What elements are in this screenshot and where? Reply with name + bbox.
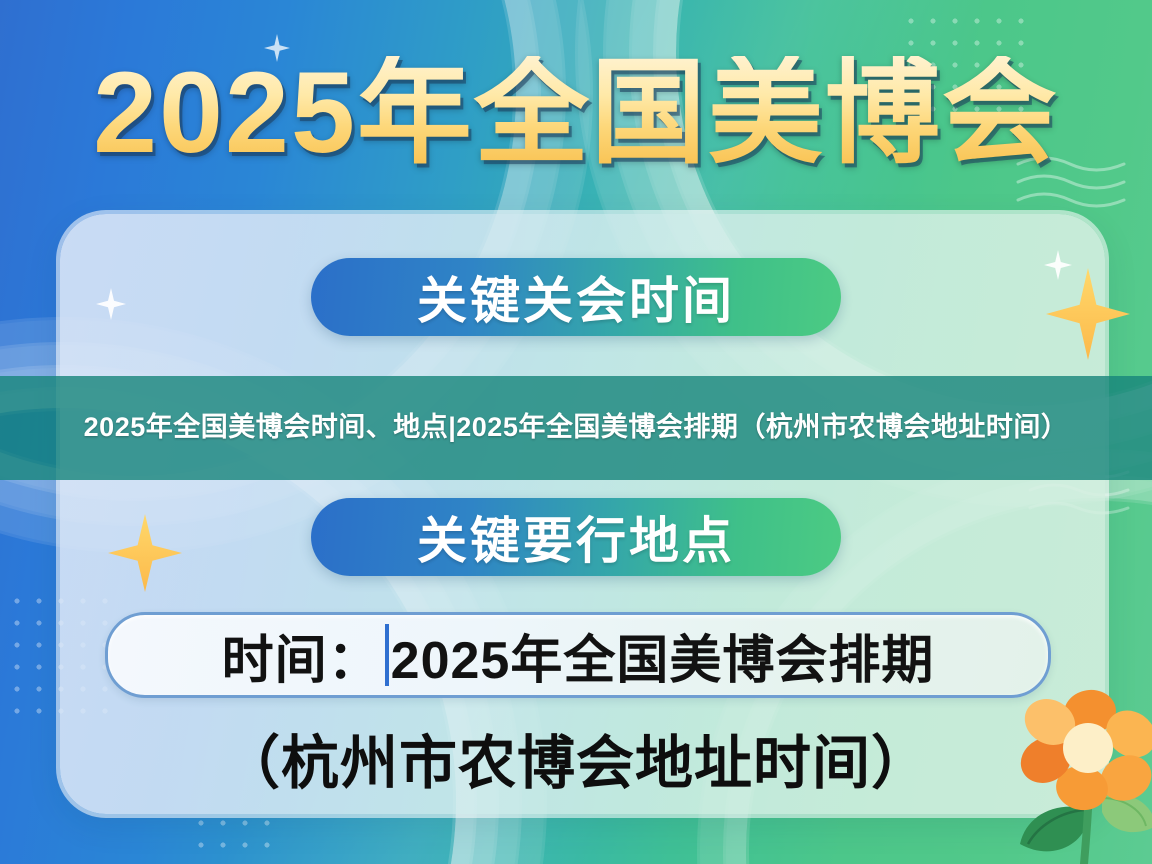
overlay-caption-band: 2025年全国美博会时间、地点|2025年全国美博会排期（杭州市农博会地址时间） xyxy=(0,376,1152,480)
flower-center xyxy=(1063,723,1113,773)
section-label-key-time[interactable]: 关键关会时间 xyxy=(311,258,841,336)
overlay-caption-line-1: 2025年全国美博会时间、地点|2025年全国美博会排期（杭州市农博 xyxy=(84,412,904,442)
subtitle-caption: （杭州市农博会地址时间） xyxy=(0,716,1152,800)
pill-label-key-time: 关键关会时间 xyxy=(417,261,735,333)
poster-canvas: 2025年全国美博会 关键关会时间 关键要行地点 时间： 2025年全国美博会排… xyxy=(0,0,1152,864)
pill-label-key-place: 关键要行地点 xyxy=(417,501,735,573)
overlay-caption-line-2: 会地址时间） xyxy=(903,412,1068,442)
text-cursor-caret xyxy=(385,624,389,686)
section-label-key-place[interactable]: 关键要行地点 xyxy=(311,498,841,576)
page-title: 2025年全国美博会 xyxy=(0,56,1152,171)
overlay-caption-text: 2025年全国美博会时间、地点|2025年全国美博会排期（杭州市农博会地址时间） xyxy=(36,408,1116,447)
time-card-text: 时间： 2025年全国美博会排期 xyxy=(222,618,935,693)
time-card-value: 2025年全国美博会排期 xyxy=(391,618,935,693)
time-card-prefix: 时间： xyxy=(222,618,381,693)
dot-grid-bottom-middle-decor xyxy=(190,812,270,864)
time-value-card[interactable]: 时间： 2025年全国美博会排期 xyxy=(105,612,1051,698)
flower-icon xyxy=(1006,686,1152,864)
